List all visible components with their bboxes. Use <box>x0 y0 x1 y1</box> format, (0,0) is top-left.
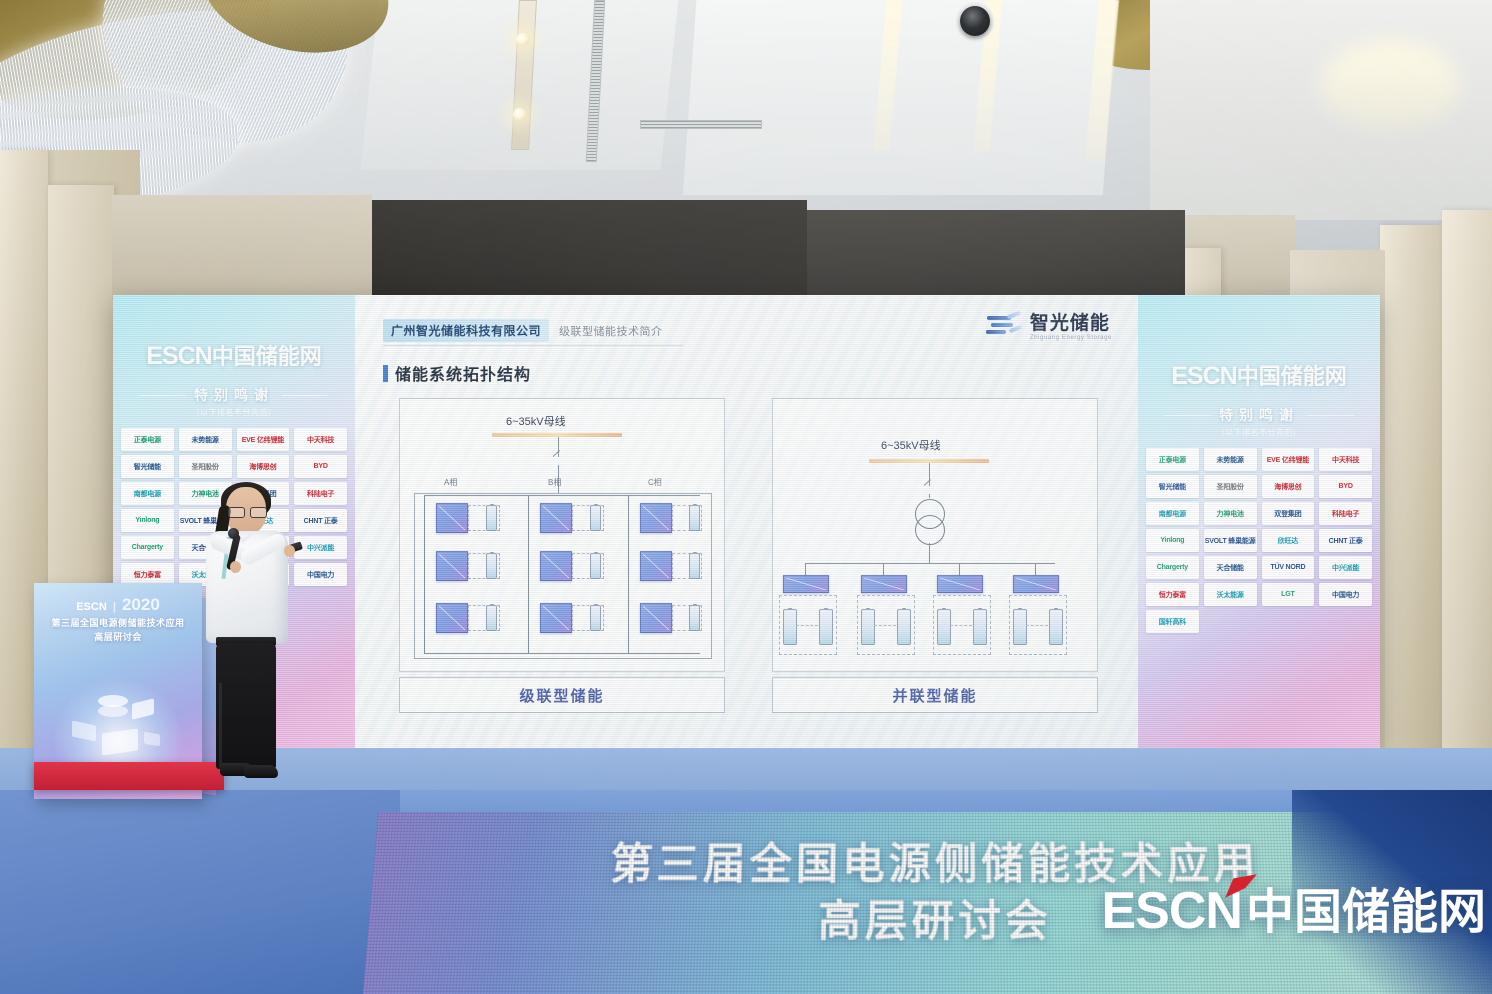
pcs-module <box>640 503 672 533</box>
section-accent-bar <box>383 365 388 382</box>
zhiguang-mark-icon <box>985 313 1023 341</box>
pcs-drop-3 <box>959 563 960 575</box>
transformer-icon <box>915 499 943 543</box>
section-title-text: 储能系统拓扑结构 <box>395 361 531 385</box>
escn-logo-left: ESCN中国储能网 <box>113 339 355 371</box>
podium-title-line1: 第三届全国电源侧储能技术应用 <box>42 617 194 631</box>
sponsor-logo: 未势能源 <box>179 428 232 451</box>
spotlight-2 <box>513 108 526 121</box>
transformer-down-wire <box>929 543 930 563</box>
sponsor-logo: 中天科技 <box>294 428 347 451</box>
pcs-module <box>436 503 468 533</box>
sponsor-logo: 中国电力 <box>1319 583 1372 606</box>
conference-photo-scene: ESCN中国储能网 特别鸣谢 (以下排名不分先后) 正泰电源 未势能源 EVE … <box>0 0 1492 994</box>
battery-link <box>874 625 896 626</box>
pcs-drop-4 <box>1035 563 1036 575</box>
watermark-cn: 中国储能网 <box>1246 872 1486 942</box>
caption-parallel-text: 并联型储能 <box>892 685 977 706</box>
podium-title: 第三届全国电源侧储能技术应用 高层研讨会 <box>42 617 194 644</box>
breaker-icon-right <box>923 483 935 499</box>
sponsor-logo: 双登集团 <box>1262 502 1315 525</box>
bus-drop-wire-right <box>929 463 930 485</box>
battery-cell <box>486 553 497 579</box>
sponsor-logo: 海博思创 <box>237 455 290 478</box>
sponsor-logo: 恒力泰富 <box>1146 583 1199 606</box>
bus-bar-left <box>492 433 622 437</box>
sponsor-logo: Chargerty <box>121 536 174 559</box>
zhiguang-logo-en: Zhiguang Energy Storage <box>1030 335 1112 341</box>
sponsor-logo: Yinlong <box>1146 529 1199 552</box>
sponsor-logo: Yinlong <box>121 509 174 532</box>
escn-logo-cn: 中国储能网 <box>1237 364 1347 389</box>
pcs-module <box>540 551 572 581</box>
pcs-module <box>640 603 672 633</box>
pcs-module <box>540 503 572 533</box>
phase-bus-bottom <box>424 653 700 654</box>
sponsor-logo: 欣旺达 <box>1262 529 1315 552</box>
bus-label-right: 6~35kV母线 <box>881 437 941 453</box>
pcs-module <box>436 551 468 581</box>
speaker-glasses-icon <box>228 507 266 516</box>
caption-parallel: 并联型储能 <box>772 677 1098 713</box>
battery-cell <box>590 505 601 531</box>
podium-brand-en: ESCN <box>76 601 107 613</box>
phase-rail-b <box>528 495 529 653</box>
slide-header: 广州智光储能科技有限公司 级联型储能技术简介 <box>383 319 663 342</box>
pcs-drop-1 <box>805 563 806 575</box>
battery-cell <box>590 605 601 631</box>
battery-cell <box>937 609 951 645</box>
thanks-note-left: (以下排名不分先后) <box>113 407 355 418</box>
sponsor-logo: EVE 亿纬锂能 <box>237 428 290 451</box>
escn-watermark: ESCN 中国储能网 <box>1102 872 1487 942</box>
escn-logo-right: ESCN中国储能网 <box>1138 359 1380 391</box>
presentation-slide: 广州智光储能科技有限公司 级联型储能技术简介 智光储能 Zhiguang Ene… <box>355 295 1138 750</box>
battery-link <box>796 625 818 626</box>
battery-cell <box>689 605 700 631</box>
sponsor-logo: SVOLT 蜂巢能源 <box>1204 529 1257 552</box>
sponsor-logo: 智光储能 <box>1146 475 1199 498</box>
slide-subtitle: 级联型储能技术简介 <box>559 323 663 339</box>
sponsor-logo: Chargerty <box>1146 556 1199 579</box>
sponsor-logo: CHNT 正泰 <box>1319 529 1372 552</box>
pcs-module <box>436 603 468 633</box>
breaker-icon <box>552 453 564 469</box>
caption-cascaded-text: 级联型储能 <box>519 685 604 706</box>
pcs-module <box>640 551 672 581</box>
zhiguang-logo-cn: 智光储能 <box>1030 314 1112 333</box>
speaker-leg-split <box>219 683 222 769</box>
zhiguang-logo: 智光储能 Zhiguang Energy Storage <box>985 313 1112 341</box>
battery-cell <box>1049 609 1063 645</box>
phase-label-a: A相 <box>444 477 457 488</box>
speaker-hand-clicker <box>284 545 295 557</box>
battery-cell <box>486 605 497 631</box>
sponsor-logo: 圣阳股份 <box>1204 475 1257 498</box>
wall-upper-left <box>112 195 372 300</box>
podium-year: 2020 <box>122 595 160 614</box>
escn-logo-en: ESCN <box>146 342 211 370</box>
dome-camera-icon <box>960 6 990 36</box>
phase-rail-c <box>628 495 629 653</box>
ceiling-vent-2 <box>640 120 762 129</box>
phase-label-b: B相 <box>548 477 561 488</box>
header-divider <box>383 345 683 346</box>
thanks-note-right: (以下排名不分先后) <box>1138 427 1380 438</box>
sponsor-logo: 国轩高科 <box>1146 610 1199 633</box>
sponsor-logo: 沃太能源 <box>1204 583 1257 606</box>
battery-cell <box>783 609 797 645</box>
speaker-hand-mic <box>230 561 241 573</box>
sponsor-logo: BYD <box>1319 475 1372 498</box>
sponsor-logo: LGT <box>1262 583 1315 606</box>
diagram-parallel: 6~35kV母线 <box>772 398 1098 672</box>
battery-cell <box>689 553 700 579</box>
sponsor-logo: EVE 亿纬锂能 <box>1262 448 1315 471</box>
phase-bus-top <box>424 495 700 496</box>
sponsor-logo: 未势能源 <box>1204 448 1257 471</box>
caption-cascaded: 级联型储能 <box>399 677 725 713</box>
battery-link <box>1026 625 1048 626</box>
speaker-shoe-right <box>244 765 278 778</box>
battery-link <box>950 625 972 626</box>
phase-rail-a <box>424 495 425 653</box>
wall-dark-right <box>807 210 1185 298</box>
diagram-cascaded: 6~35kV母线 A相 B相 C相 <box>399 398 725 672</box>
sponsor-logo: 智光储能 <box>121 455 174 478</box>
spotlight <box>516 33 529 46</box>
podium-title-line2: 高层研讨会 <box>42 631 194 645</box>
battery-cell <box>689 505 700 531</box>
escn-logo-cn: 中国储能网 <box>212 344 322 369</box>
battery-cell <box>861 609 875 645</box>
sponsor-panel-right: ESCN中国储能网 特别鸣谢 (以下排名不分先后) 正泰电源 未势能源 EVE … <box>1138 295 1380 750</box>
sponsor-logo: 天合储能 <box>1204 556 1257 579</box>
wall-dark-center <box>372 200 807 298</box>
pcs-converter <box>783 575 829 593</box>
pcs-converter <box>1013 575 1059 593</box>
sponsor-logo: 中天科技 <box>1319 448 1372 471</box>
sponsor-logo: 正泰电源 <box>121 428 174 451</box>
thanks-label-left: 特别鸣谢 <box>194 385 274 405</box>
sponsor-logo: 南都电源 <box>1146 502 1199 525</box>
pcs-converter <box>861 575 907 593</box>
podium-brand: ESCN | 2020 <box>34 595 202 615</box>
bus-label-left: 6~35kV母线 <box>506 413 566 429</box>
sponsor-logo: 力神电池 <box>1204 502 1257 525</box>
sponsor-logo: BYD <box>294 455 347 478</box>
sponsor-logo: 中兴派能 <box>1319 556 1372 579</box>
phase-label-c: C相 <box>648 477 662 488</box>
pcs-module <box>540 603 572 633</box>
battery-cell <box>897 609 911 645</box>
sponsor-logo: 南都电源 <box>121 482 174 505</box>
battery-cell <box>590 553 601 579</box>
sponsor-logo: 正泰电源 <box>1146 448 1199 471</box>
pcs-converter <box>937 575 983 593</box>
watermark-en: ESCN <box>1102 881 1242 941</box>
sponsor-logo: TÜV NORD <box>1262 556 1315 579</box>
escn-logo-en: ESCN <box>1171 362 1236 390</box>
thanks-label-right: 特别鸣谢 <box>1219 405 1299 425</box>
cove-glow <box>1320 40 1460 130</box>
pcs-drop-2 <box>883 563 884 575</box>
battery-cell <box>1013 609 1027 645</box>
parallel-bus <box>805 563 1055 564</box>
slide-section-title: 储能系统拓扑结构 <box>383 361 531 385</box>
company-name-chip: 广州智光储能科技有限公司 <box>383 319 549 342</box>
battery-cell <box>973 609 987 645</box>
speaker-presenter <box>190 487 310 787</box>
microphone-head <box>228 528 239 539</box>
speaker-legs <box>216 643 276 769</box>
podium-artwork <box>54 679 182 767</box>
sponsor-logo: 圣阳股份 <box>179 455 232 478</box>
battery-cell <box>486 505 497 531</box>
sponsor-logo: 海博思创 <box>1262 475 1315 498</box>
battery-cell <box>819 609 833 645</box>
stage-floor-left <box>0 790 400 994</box>
sponsor-logo-grid-right: 正泰电源 未势能源 EVE 亿纬锂能 中天科技 智光储能 圣阳股份 海博思创 B… <box>1138 448 1380 633</box>
sponsor-logo: 科陆电子 <box>1319 502 1372 525</box>
